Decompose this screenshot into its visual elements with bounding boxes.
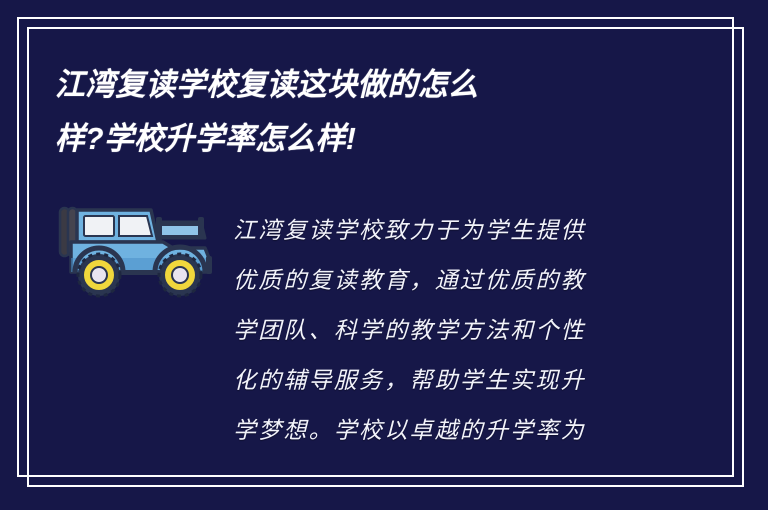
body-line-1: 江湾复读学校致力于为学生提供 (233, 206, 651, 256)
jeep-illustration (55, 196, 215, 301)
rear-wheel (78, 254, 120, 296)
body-line-2: 优质的复读教育，通过优质的教 (233, 256, 651, 306)
front-wheel (159, 254, 201, 296)
cargo-bed (156, 217, 205, 241)
body-line-4: 化的辅导服务，帮助学生实现升 (233, 356, 651, 406)
cabin (77, 210, 158, 242)
body-line-3: 学团队、科学的教学方法和个性 (233, 306, 651, 356)
body-line-5: 学梦想。学校以卓越的升学率为 (233, 406, 651, 456)
front-bumper (206, 256, 212, 274)
body-paragraph: 江湾复读学校致力于为学生提供 优质的复读教育，通过优质的教 学团队、科学的教学方… (233, 206, 651, 456)
poster-canvas: 江湾复读学校复读这块做的怎么 样?学校升学率怎么样! (0, 0, 768, 510)
title-line-2: 样?学校升学率怎么样! (55, 112, 650, 166)
title-line-1: 江湾复读学校复读这块做的怎么 (55, 58, 650, 112)
page-title: 江湾复读学校复读这块做的怎么 样?学校升学率怎么样! (55, 58, 675, 166)
